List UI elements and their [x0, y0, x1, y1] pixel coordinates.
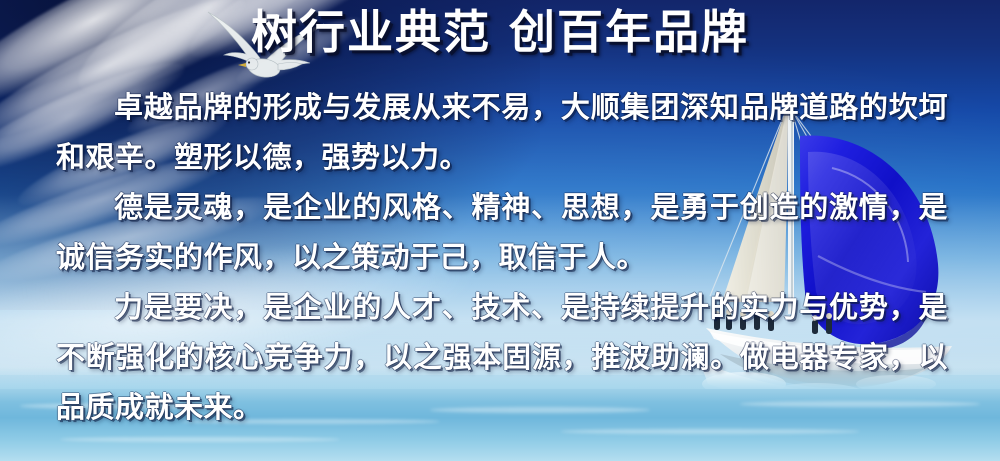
paragraph-1: 卓越品牌的形成与发展从来不易，大顺集团深知品牌道路的坎坷和艰辛。塑形以德，强势以…	[56, 82, 948, 182]
paragraph-2: 德是灵魂，是企业的风格、精神、思想，是勇于创造的激情，是诚信务实的作风，以之策动…	[56, 182, 948, 282]
paragraph-3: 力是要决，是企业的人才、技术、是持续提升的实力与优势，是不断强化的核心竞争力，以…	[56, 282, 948, 432]
text-overlay: 树行业典范 创百年品牌 卓越品牌的形成与发展从来不易，大顺集团深知品牌道路的坎坷…	[0, 0, 1000, 461]
page-title: 树行业典范 创百年品牌	[0, 2, 1000, 62]
body-copy: 卓越品牌的形成与发展从来不易，大顺集团深知品牌道路的坎坷和艰辛。塑形以德，强势以…	[56, 82, 948, 432]
promo-banner: 树行业典范 创百年品牌 卓越品牌的形成与发展从来不易，大顺集团深知品牌道路的坎坷…	[0, 0, 1000, 461]
